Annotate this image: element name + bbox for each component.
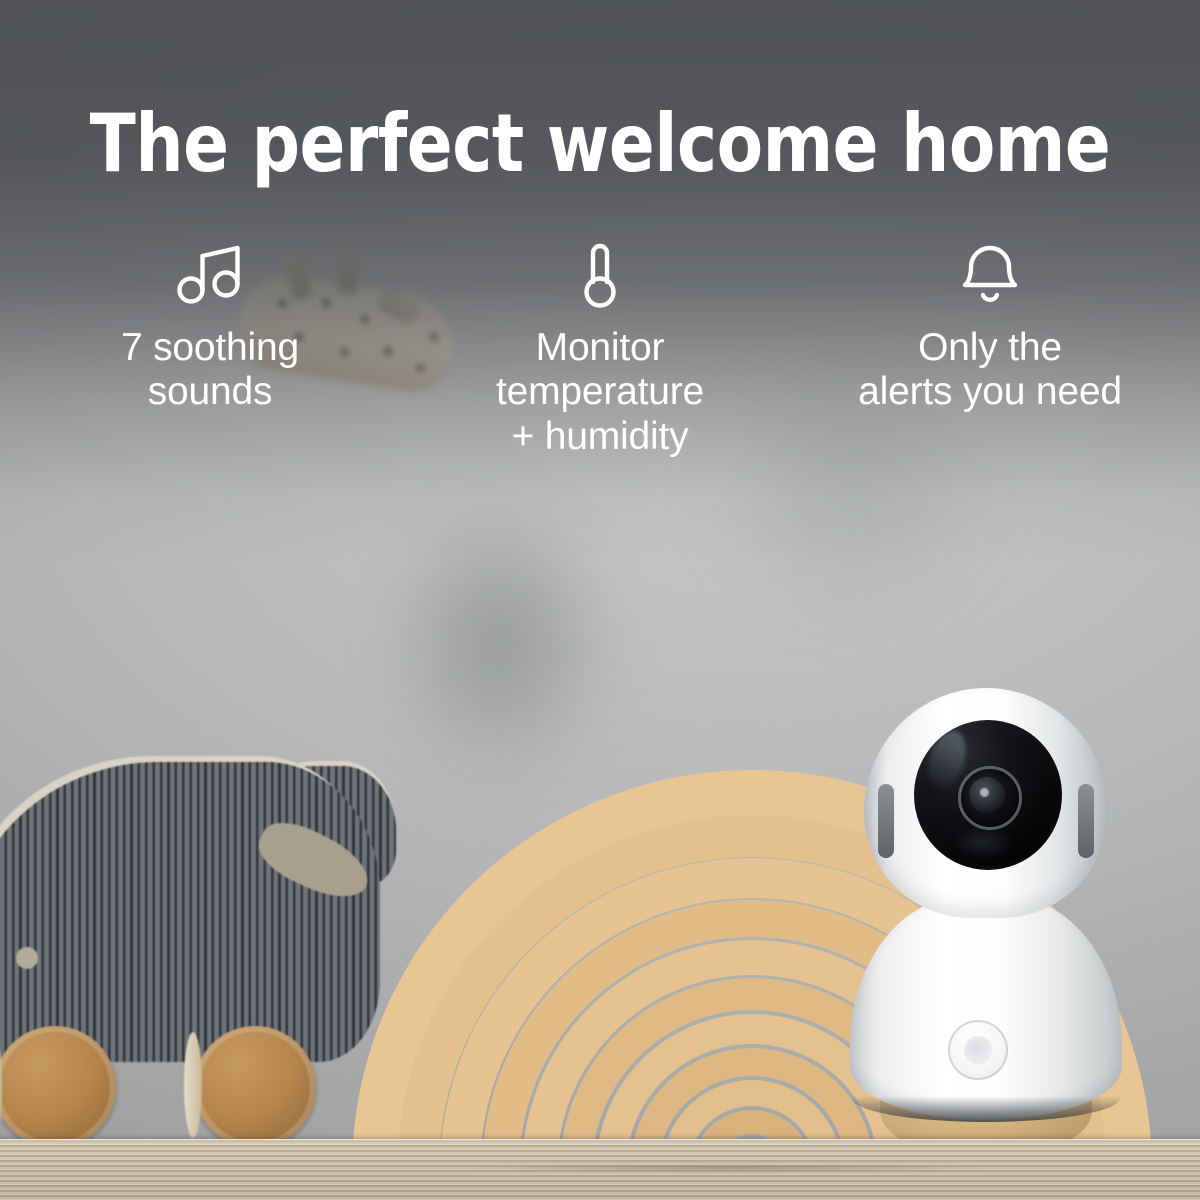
feature-label-soothing-sounds: 7 soothing sounds [121, 326, 299, 415]
promo-image: The perfect welcome home 7 soothing soun… [0, 0, 1200, 1200]
feature-label-alerts: Only the alerts you need [858, 326, 1122, 415]
feature-label-line: Monitor [496, 326, 704, 370]
feature-label-line: temperature [496, 370, 704, 414]
feature-label-line: sounds [121, 370, 299, 414]
marketing-overlay: The perfect welcome home 7 soothing soun… [0, 0, 1200, 1200]
feature-alerts: Only the alerts you need [820, 238, 1160, 415]
thermometer-icon [576, 238, 624, 310]
feature-label-temperature-humidity: Monitor temperature + humidity [496, 326, 704, 459]
feature-label-line: alerts you need [858, 370, 1122, 414]
page-title: The perfect welcome home [36, 104, 1164, 184]
feature-temperature-humidity: Monitor temperature + humidity [430, 238, 770, 459]
feature-row: 7 soothing sounds Monitor temperature + … [40, 238, 1160, 459]
feature-label-line: Only the [858, 326, 1122, 370]
music-note-icon [175, 238, 245, 310]
bell-icon [952, 238, 1028, 310]
feature-label-line: 7 soothing [121, 326, 299, 370]
feature-label-line: + humidity [496, 415, 704, 459]
feature-soothing-sounds: 7 soothing sounds [40, 238, 380, 415]
